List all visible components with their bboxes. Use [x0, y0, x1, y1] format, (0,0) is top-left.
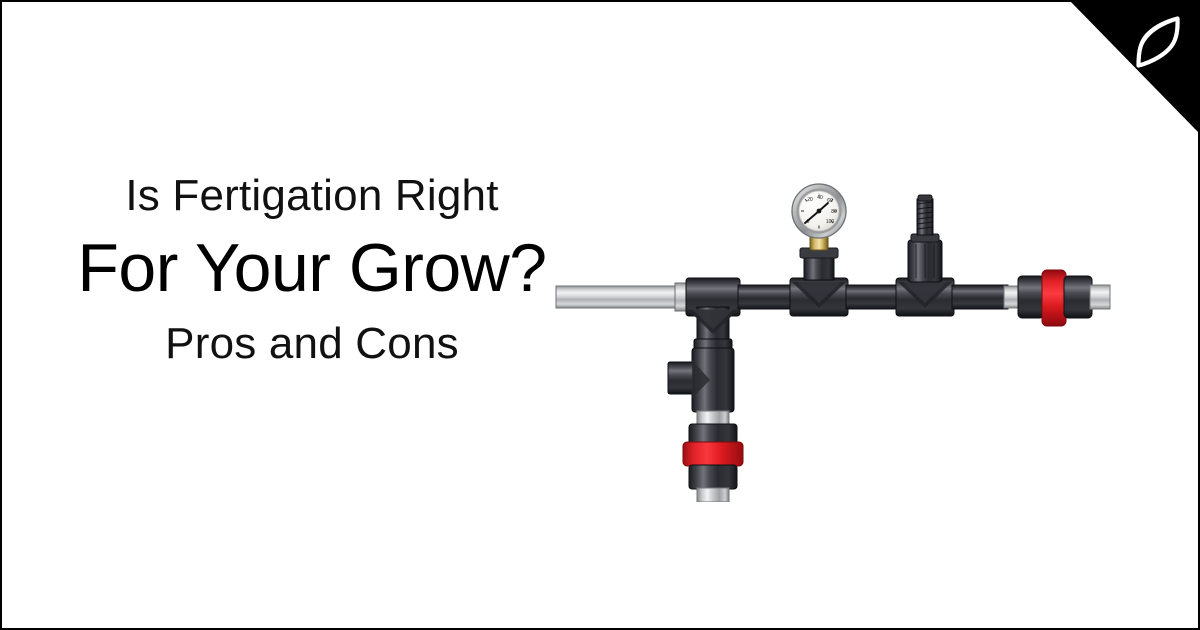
social-share-card: Is Fertigation Right For Your Grow? Pros… [0, 0, 1200, 630]
headline-line-top: Is Fertigation Right [2, 170, 622, 222]
inlet-tee-fitting [686, 278, 740, 341]
outlet-end-cap [1090, 285, 1110, 309]
svg-text:80: 80 [831, 209, 837, 215]
leaf-logo-icon [1132, 14, 1184, 70]
right-union-red-band [1042, 270, 1066, 326]
headline-block: Is Fertigation Right For Your Grow? Pros… [2, 170, 622, 370]
headline-line-sub: Pros and Cons [2, 318, 622, 370]
gauge-tee-fitting [790, 248, 848, 316]
corner-triangle-shape [1053, 2, 1198, 132]
svg-text:100: 100 [826, 219, 835, 225]
down-leg-outlet-end [697, 488, 729, 502]
svg-text:20: 20 [807, 197, 813, 203]
pipe-run-inlet-to-gauge [738, 285, 794, 309]
right-union-assembly [1004, 270, 1110, 326]
pipe-run-gauge-to-riser [846, 285, 900, 309]
brand-corner [1053, 2, 1198, 132]
pipe-run-riser-to-union [952, 285, 1008, 309]
down-leg-assembly [668, 339, 743, 502]
svg-text:40: 40 [817, 195, 823, 201]
lower-union-red-band [683, 442, 743, 466]
threaded-barb-nipple [908, 195, 942, 282]
down-leg-chrome-nipple [697, 411, 729, 425]
chrome-inlet-pipe [556, 283, 688, 311]
pressure-gauge: 20 40 60 80 100 0 [792, 184, 846, 238]
riser-tee-fitting [896, 278, 954, 316]
headline-line-main: For Your Grow? [2, 226, 622, 310]
fertigation-manifold-illustration: 20 40 60 80 100 0 [542, 182, 1122, 502]
